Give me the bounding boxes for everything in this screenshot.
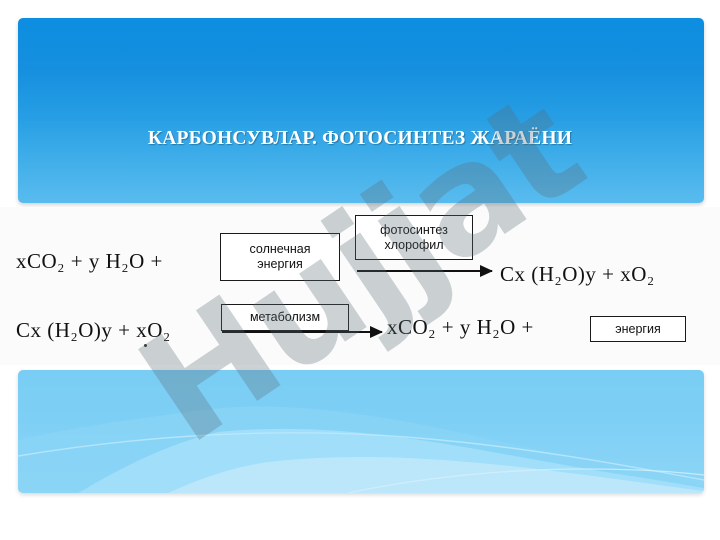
presentation-slide: КАРБОНСУВЛАР. ФОТОСИНТЕЗ ЖАРАЁНИ xCO₂ + … xyxy=(0,0,720,540)
energy-output-box: энергия xyxy=(590,316,686,342)
photosynthesis-condition-box: фотосинтез хлорофил xyxy=(355,215,473,260)
metabolism-condition-label: метаболизм xyxy=(250,310,320,325)
photosynthesis-reactants: xCO₂ + y H₂O + xyxy=(16,249,163,274)
photosynthesis-products: Cx (H₂O)y + xO₂ xyxy=(500,262,655,287)
solar-energy-box: солнечная энергия xyxy=(220,233,340,281)
metabolism-condition-box: метаболизм xyxy=(221,304,349,331)
respiration-reactants: Cx (H₂O)y + xO₂ xyxy=(16,318,171,343)
solar-energy-label-line1: солнечная xyxy=(250,242,311,257)
respiration-products: xCO₂ + y H₂O + xyxy=(387,315,534,340)
title-banner xyxy=(18,18,704,203)
bottom-decorative-panel xyxy=(18,370,704,493)
metabolism-reaction-arrow-icon xyxy=(222,331,382,333)
photosynthesis-condition-label-line2: хлорофил xyxy=(384,238,443,253)
photosynthesis-reaction-arrow-icon xyxy=(357,270,492,272)
wave-decoration-icon xyxy=(18,370,704,493)
scan-artifact-dot xyxy=(144,344,147,347)
photosynthesis-condition-label-line1: фотосинтез xyxy=(380,223,448,238)
energy-output-label: энергия xyxy=(615,322,661,337)
solar-energy-label-line2: энергия xyxy=(257,257,303,272)
page-title: КАРБОНСУВЛАР. ФОТОСИНТЕЗ ЖАРАЁНИ xyxy=(0,128,720,150)
